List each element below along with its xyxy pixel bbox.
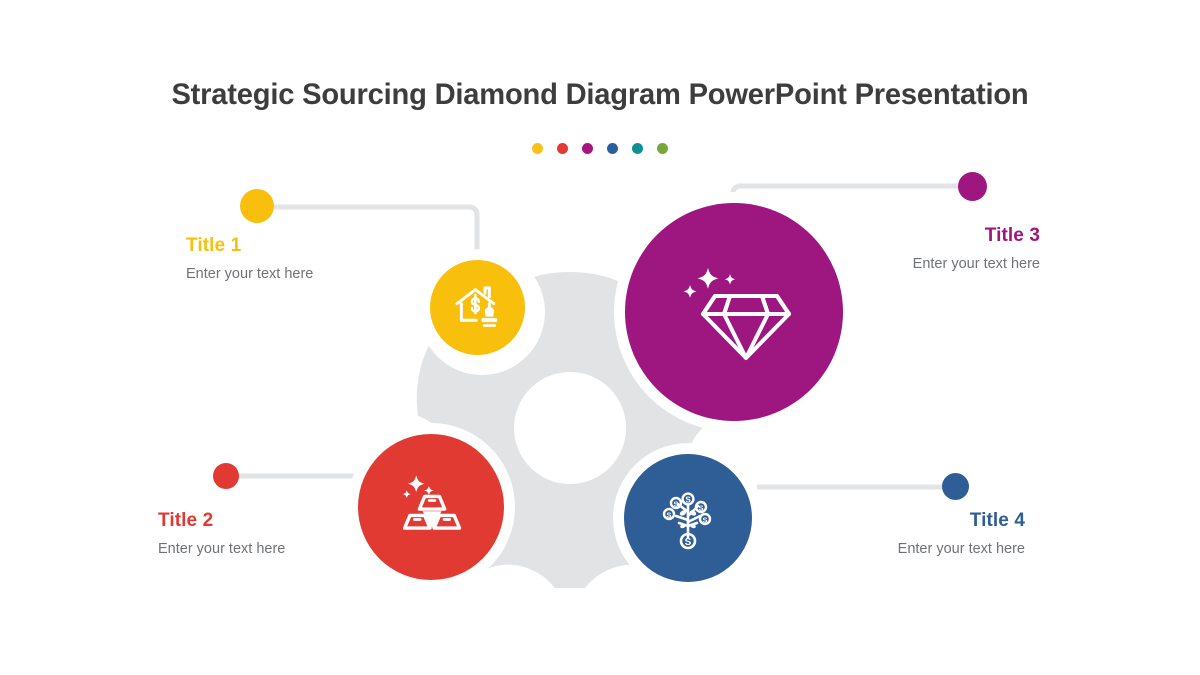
endpoint-dot-3[interactable] bbox=[958, 172, 987, 201]
svg-text:S: S bbox=[699, 503, 704, 512]
endpoint-dot-1[interactable] bbox=[240, 189, 274, 223]
node-title-4: Title 4 bbox=[765, 511, 1025, 532]
node-desc-3: Enter your text here bbox=[780, 256, 1040, 273]
label-block-3: Title 3 Enter your text here bbox=[780, 226, 1040, 273]
node-desc-4: Enter your text here bbox=[765, 541, 1025, 558]
node-title-2: Title 2 bbox=[158, 511, 418, 532]
svg-text:S: S bbox=[667, 510, 672, 519]
node-circle-4[interactable]: S S S S S bbox=[624, 454, 752, 582]
svg-text:S: S bbox=[685, 496, 691, 505]
node-title-3: Title 3 bbox=[780, 226, 1040, 247]
svg-text:S: S bbox=[703, 515, 708, 524]
slide-canvas: Strategic Sourcing Diamond Diagram Power… bbox=[0, 0, 1200, 675]
money-tree-icon: S S S S S bbox=[652, 482, 724, 554]
diamond-gem-icon bbox=[675, 260, 793, 364]
svg-text:S: S bbox=[685, 537, 692, 548]
node-desc-2: Enter your text here bbox=[158, 541, 418, 558]
svg-text:S: S bbox=[674, 499, 679, 508]
house-dollar-stamp-icon bbox=[450, 280, 506, 336]
label-block-1: Title 1 Enter your text here bbox=[186, 236, 446, 283]
node-title-1: Title 1 bbox=[186, 236, 446, 257]
endpoint-dot-2[interactable] bbox=[213, 463, 239, 489]
label-block-4: Title 4 Enter your text here bbox=[765, 511, 1025, 558]
label-block-2: Title 2 Enter your text here bbox=[158, 511, 418, 558]
node-desc-1: Enter your text here bbox=[186, 266, 446, 283]
endpoint-dot-4[interactable] bbox=[942, 473, 969, 500]
